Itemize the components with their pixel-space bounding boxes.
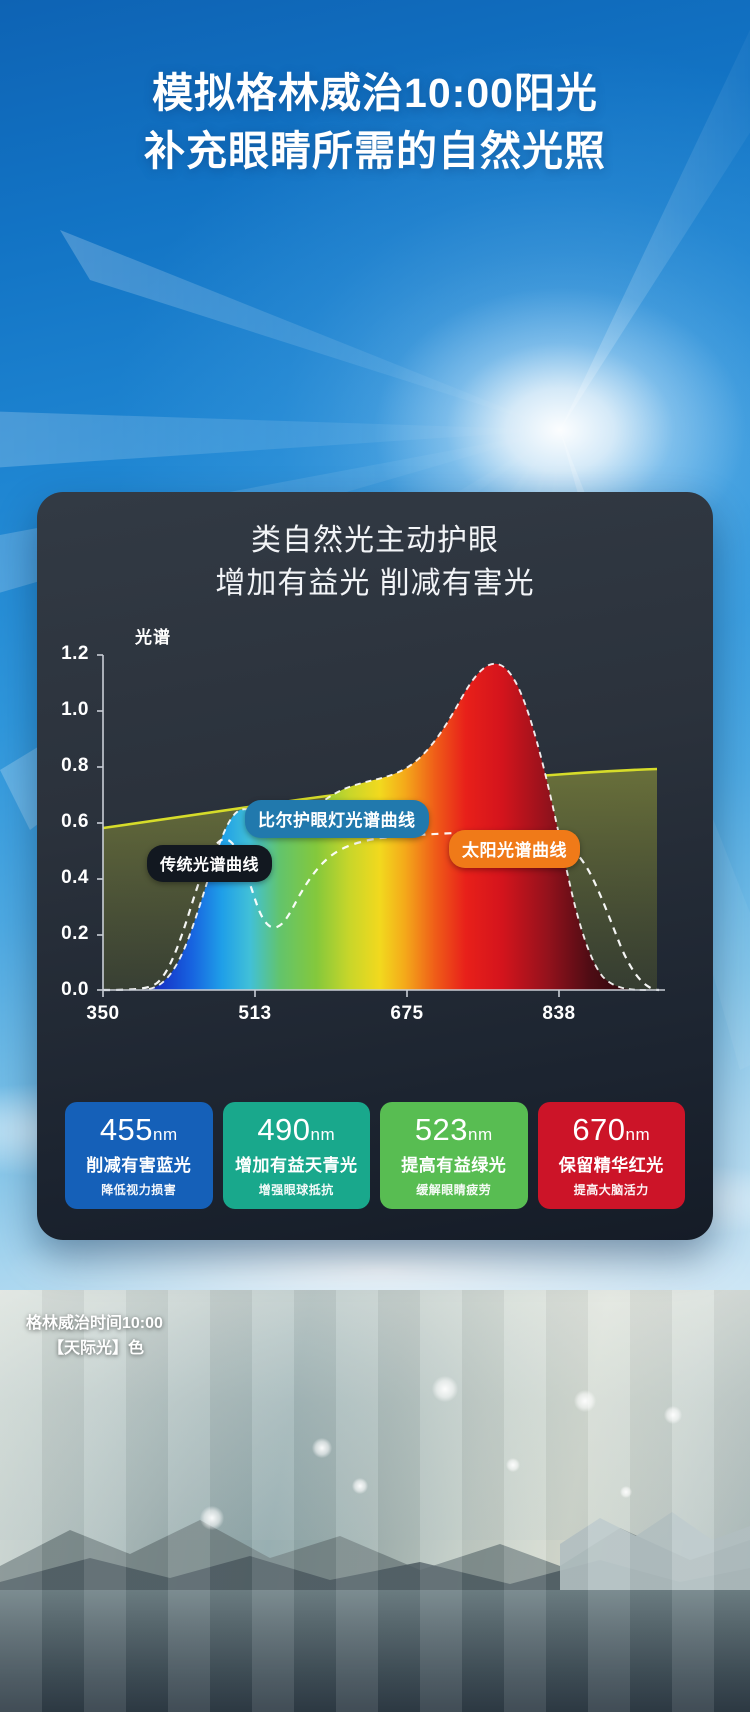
- spec-card-455-title: 削减有害蓝光: [69, 1151, 209, 1176]
- spec-card-670-subtitle: 提高大脑活力: [542, 1181, 682, 1198]
- spec-card-490-value: 490nm: [227, 1114, 367, 1147]
- hero-title-line2: 补充眼睛所需的自然光照: [0, 122, 750, 180]
- spec-card-490-unit: nm: [311, 1125, 336, 1144]
- y-tick-0_4: 0.4: [39, 867, 89, 889]
- spec-card-670-value: 670nm: [542, 1114, 682, 1147]
- bokeh-dot: [352, 1478, 368, 1494]
- spec-card-670[interactable]: 670nm 保留精华红光 提高大脑活力: [538, 1102, 686, 1209]
- legend-badge-lamp: 比尔护眼灯光谱曲线: [245, 800, 429, 838]
- bokeh-dot: [620, 1486, 632, 1498]
- photo-caption: 格林威治时间10:00 【天际光】色: [26, 1312, 163, 1362]
- bokeh-dot: [312, 1438, 332, 1458]
- spec-card-670-number: 670: [572, 1112, 625, 1147]
- card-title: 类自然光主动护眼 增加有益光 削减有害光: [37, 520, 713, 605]
- card-title-line1: 类自然光主动护眼: [37, 520, 713, 563]
- spec-card-523-subtitle: 缓解眼睛疲劳: [384, 1181, 524, 1198]
- bokeh-dot: [200, 1506, 224, 1530]
- spec-card-490-title: 增加有益天青光: [227, 1151, 367, 1176]
- spec-card-455-unit: nm: [153, 1125, 178, 1144]
- y-tick-0_0: 0.0: [39, 979, 89, 1001]
- photo-caption-line2: 【天际光】色: [48, 1337, 163, 1362]
- bokeh-dot: [664, 1406, 682, 1424]
- spec-card-455-value: 455nm: [69, 1114, 209, 1147]
- wavelength-spec-cards: 455nm 削减有害蓝光 降低视力损害 490nm 增加有益天青光 增强眼球抵抗…: [65, 1102, 685, 1209]
- spec-card-490-subtitle: 增强眼球抵抗: [227, 1181, 367, 1198]
- y-axis-title: 光谱: [135, 623, 171, 648]
- spec-card-490-number: 490: [257, 1112, 310, 1147]
- x-tick-675: 675: [372, 1003, 442, 1025]
- legend-badge-traditional: 传统光谱曲线: [147, 845, 272, 882]
- hero-title: 模拟格林威治10:00阳光 补充眼睛所需的自然光照: [0, 64, 750, 180]
- spec-card-490[interactable]: 490nm 增加有益天青光 增强眼球抵抗: [223, 1102, 371, 1209]
- bottom-photo: 格林威治时间10:00 【天际光】色: [0, 1290, 750, 1712]
- spec-card-455[interactable]: 455nm 削减有害蓝光 降低视力损害: [65, 1102, 213, 1209]
- spec-card-523-title: 提高有益绿光: [384, 1151, 524, 1176]
- bokeh-dot: [432, 1376, 458, 1402]
- y-tick-0_8: 0.8: [39, 755, 89, 777]
- spec-card-455-subtitle: 降低视力损害: [69, 1181, 209, 1198]
- spec-card-455-number: 455: [100, 1112, 153, 1147]
- x-tick-838: 838: [524, 1003, 594, 1025]
- spectrum-card: 类自然光主动护眼 增加有益光 削减有害光: [37, 492, 713, 1240]
- y-tick-0_2: 0.2: [39, 923, 89, 945]
- x-tick-350: 350: [68, 1003, 138, 1025]
- bokeh-dot: [506, 1458, 520, 1472]
- legend-badge-sun: 太阳光谱曲线: [449, 830, 580, 868]
- spec-card-523-unit: nm: [468, 1125, 493, 1144]
- y-tick-0_6: 0.6: [39, 811, 89, 833]
- photo-caption-line1: 格林威治时间10:00: [26, 1312, 163, 1337]
- x-tick-513: 513: [220, 1003, 290, 1025]
- card-title-line2: 增加有益光 削减有害光: [37, 563, 713, 606]
- y-tick-1_0: 1.0: [39, 699, 89, 721]
- x-axis-ticks: [103, 990, 559, 997]
- spec-card-523-number: 523: [415, 1112, 468, 1147]
- hero-title-line1: 模拟格林威治10:00阳光: [0, 64, 750, 122]
- spec-card-523-value: 523nm: [384, 1114, 524, 1147]
- promo-page: 模拟格林威治10:00阳光 补充眼睛所需的自然光照 类自然光主动护眼 增加有益光…: [0, 0, 750, 1712]
- spectrum-chart: 光谱 1.2 1.0 0.8 0.6 0.4 0.2 0.0 350 513 6…: [37, 617, 713, 1047]
- spec-card-523[interactable]: 523nm 提高有益绿光 缓解眼睛疲劳: [380, 1102, 528, 1209]
- spec-card-670-title: 保留精华红光: [542, 1151, 682, 1176]
- spec-card-670-unit: nm: [626, 1125, 651, 1144]
- bokeh-dot: [574, 1390, 596, 1412]
- y-axis-ticks: [97, 655, 103, 990]
- y-tick-1_2: 1.2: [39, 643, 89, 665]
